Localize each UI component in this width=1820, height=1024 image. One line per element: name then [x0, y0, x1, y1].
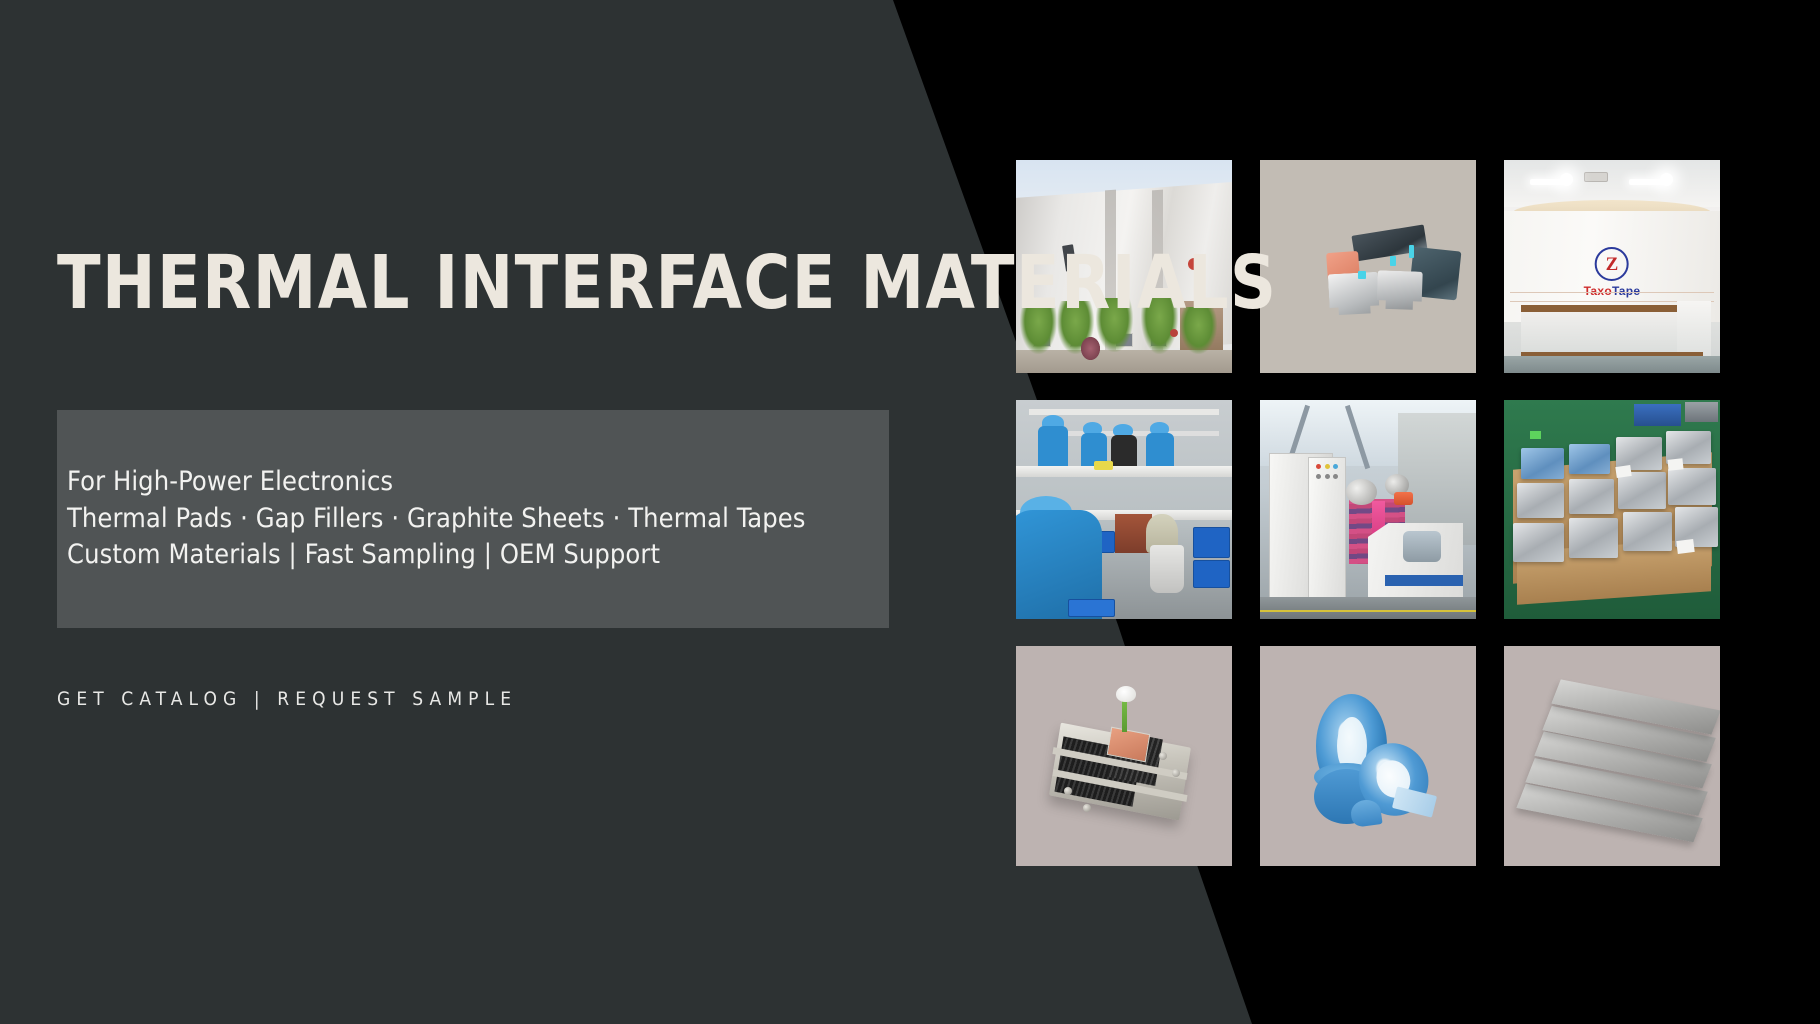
packed-sheet — [1569, 444, 1610, 475]
shipping-label — [1616, 465, 1632, 478]
packed-sheet — [1623, 512, 1673, 551]
packed-sheet — [1513, 523, 1565, 562]
packed-sheet — [1569, 479, 1614, 514]
shipping-label — [1676, 539, 1695, 554]
taxotape-logo: Z TaxoTape — [1584, 247, 1641, 298]
machine-stripe — [1385, 575, 1463, 586]
packed-sheet — [1517, 483, 1565, 518]
factory-floor — [1260, 597, 1476, 619]
indicator-light — [1325, 464, 1330, 469]
bush — [1081, 337, 1100, 360]
cyan-accent — [1390, 256, 1396, 267]
indicator-light — [1316, 464, 1321, 469]
subtitle-panel: For High-Power Electronics Thermal Pads … — [57, 410, 889, 628]
floor-lane-marking — [1260, 610, 1476, 612]
blue-crate — [1193, 560, 1230, 588]
packed-sheet — [1618, 472, 1666, 509]
reception-desk-side — [1677, 301, 1712, 356]
screw — [1172, 769, 1180, 777]
ceiling-vent — [1584, 172, 1608, 183]
logo-mark-icon: Z — [1595, 247, 1629, 281]
tile-heatsink-paste[interactable] — [1016, 646, 1232, 866]
subtitle-line-3: Custom Materials | Fast Sampling | OEM S… — [67, 537, 889, 574]
blue-crate — [1634, 404, 1682, 426]
tile-assembly-line[interactable] — [1016, 400, 1232, 619]
tile-blue-tape-rolls[interactable] — [1260, 646, 1476, 866]
silver-shield-sample — [1328, 272, 1380, 321]
floor — [1504, 356, 1720, 373]
signpost — [1170, 329, 1178, 337]
work-bench — [1016, 466, 1232, 477]
work-tray — [1094, 461, 1113, 470]
screw — [1064, 787, 1072, 795]
subtitle-line-2: Thermal Pads · Gap Fillers · Graphite Sh… — [67, 501, 889, 538]
spotlight — [1560, 173, 1573, 186]
packed-sheet — [1521, 448, 1564, 479]
packed-sheet — [1668, 468, 1716, 505]
tile-coating-machine[interactable] — [1260, 400, 1476, 619]
subtitle-line-1: For High-Power Electronics — [67, 464, 889, 501]
shipping-label — [1668, 458, 1684, 470]
shelf — [1029, 409, 1219, 416]
blue-crate — [1193, 527, 1230, 558]
cyan-accent — [1358, 271, 1366, 280]
wall-trim — [1510, 292, 1713, 293]
metal-crate — [1685, 402, 1717, 422]
spotlight — [1660, 173, 1673, 186]
silver-shield-sample — [1376, 270, 1423, 314]
green-label — [1530, 431, 1541, 440]
packed-sheet — [1569, 518, 1619, 557]
applicator-swab — [1116, 686, 1136, 702]
page-title: THERMAL INTERFACE MATERIALS — [57, 246, 1277, 320]
cyan-accent — [1409, 245, 1414, 258]
tile-packed-sheets[interactable] — [1504, 400, 1720, 619]
screw — [1083, 804, 1091, 812]
tile-stacked-sheets[interactable] — [1504, 646, 1720, 866]
orange-core — [1394, 492, 1413, 505]
blue-crate — [1068, 599, 1116, 617]
hero-banner: THERMAL INTERFACE MATERIALS For High-Pow… — [0, 0, 1820, 1024]
screw — [1159, 752, 1167, 760]
waste-bin — [1150, 545, 1185, 593]
machine-window — [1403, 531, 1442, 562]
tile-thermal-pad-products[interactable] — [1260, 160, 1476, 373]
reception-desk — [1521, 305, 1681, 356]
ceiling-light — [1629, 179, 1664, 185]
cta-get-catalog-request-sample[interactable]: GET CATALOG | REQUEST SAMPLE — [57, 688, 517, 710]
tile-showroom-lobby[interactable]: Z TaxoTape — [1504, 160, 1720, 373]
